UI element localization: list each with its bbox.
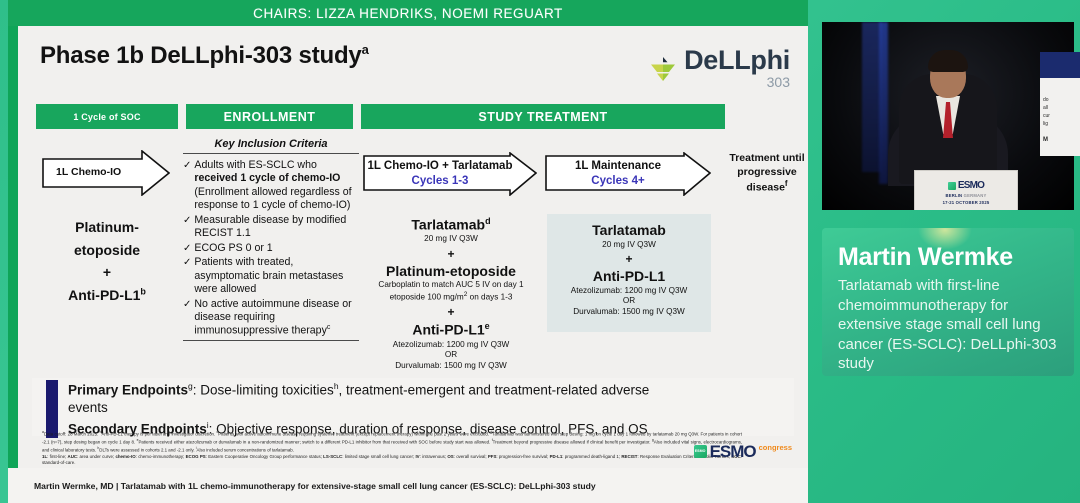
checkmark-icon: ✓: [183, 242, 191, 255]
arm2-arrow: 1L Maintenance Cycles 4+: [545, 152, 711, 196]
checkmark-icon: ✓: [183, 298, 191, 339]
regimen-drug-name: Platinum-etoposide: [363, 263, 539, 281]
podium-esmo-logo: ESMO: [948, 181, 984, 191]
treat-until-line3: disease: [746, 182, 785, 194]
speaker-video[interactable]: ESMO BERLIN GERMANY 17-21 OCTOBER 2025: [822, 22, 1074, 210]
podium-esmo-wordmark: ESMO: [958, 181, 984, 191]
regimen-drug-name: Tarlatamab: [551, 222, 707, 240]
podium-sign: ESMO BERLIN GERMANY 17-21 OCTOBER 2025: [914, 170, 1018, 210]
arrow-right-icon: [363, 152, 537, 196]
mini-slide-bar: [1040, 52, 1080, 78]
arrow-right-icon: [545, 152, 711, 196]
arm1-regimen: Tarlatamabd20 mg IV Q3W+Platinum-etoposi…: [363, 216, 539, 371]
footnote-line: aData cutoff: 28 March 2025. bAnti-PD-L1…: [42, 430, 742, 454]
kic-item: ✓No active autoimmune disease or disease…: [183, 298, 359, 339]
soc-regimen: Platinum- etoposide + Anti-PD-L1b: [36, 216, 178, 307]
band-study-treatment: STUDY TREATMENT: [361, 104, 725, 129]
treat-until-line2: progressive: [737, 166, 797, 178]
slide-title-footnote-marker: a: [362, 42, 369, 57]
slide-frame: Phase 1b DeLLphi-303 studya DeLLphi 303 …: [8, 26, 808, 468]
kic-item: ✓Measurable disease by modified RECIST 1…: [183, 214, 359, 241]
arm1-arrow: 1L Chemo-IO + Tarlatamab Cycles 1-3: [363, 152, 537, 196]
podium-location: BERLIN GERMANY: [946, 193, 987, 198]
soc-drug-line3: Anti-PD-L1b: [36, 284, 178, 307]
regimen-drug-name: Anti-PD-L1e: [363, 321, 539, 339]
regimen-drug-dose: Carboplatin to match AUC 5 IV on day 1et…: [363, 280, 539, 303]
page-title: Phase 1b DeLLphi-303 studya: [40, 42, 369, 70]
band-enrollment: ENROLLMENT: [186, 104, 353, 129]
checkmark-icon: ✓: [183, 214, 191, 241]
presentation-player: CHAIRS: LIZZA HENDRIKS, NOEMI REGUART Ph…: [0, 0, 1080, 503]
band-enrollment-label: ENROLLMENT: [224, 110, 316, 124]
treat-until-marker: f: [785, 179, 788, 188]
mini-slide-text: doallcurligM: [1043, 96, 1050, 146]
kic-item: ✓Patients with treated, asymptomatic bra…: [183, 256, 359, 296]
background-slide-peek: doallcurligM: [1040, 52, 1080, 156]
soc-drug-plus: +: [36, 261, 178, 284]
soc-arrow: 1L Chemo-IO: [42, 150, 170, 196]
arm2-regimen: Tarlatamab20 mg IV Q3W+Anti-PD-L1Atezoli…: [547, 214, 711, 332]
primary-endpoints-text: : Dose-limiting toxicities: [193, 383, 334, 398]
soc-drug-line2: etoposide: [36, 239, 178, 262]
primary-endpoints-line2: events: [68, 400, 108, 415]
dellphi-number: 303: [767, 75, 790, 89]
arm2-arrow-line1: 1L Maintenance: [545, 160, 711, 172]
checkmark-icon: ✓: [183, 256, 191, 296]
speaker-name: Martin Wermke: [838, 244, 1060, 270]
arm2-arrow-line2: Cycles 4+: [545, 175, 711, 187]
regimen-drug-dose: Atezolizumab: 1200 mg IV Q3WORDurvalumab…: [551, 286, 707, 318]
slide-footer-text: Martin Wermke, MD | Tarlatamab with 1L c…: [8, 481, 596, 491]
regimen-drug-dose: Atezolizumab: 1200 mg IV Q3WORDurvalumab…: [363, 340, 539, 372]
kic-item-text: Patients with treated, asymptomatic brai…: [194, 256, 359, 296]
soc-arrow-label: 1L Chemo-IO: [56, 166, 121, 178]
regimen-plus: +: [551, 250, 707, 268]
regimen-plus: +: [363, 303, 539, 321]
kic-item-text: No active autoimmune disease or disease …: [194, 298, 359, 339]
kic-item: ✓Adults with ES-SCLC who received 1 cycl…: [183, 159, 359, 213]
footnote-line: 1L: first-line; AUC: area under curve; c…: [42, 454, 742, 467]
kic-title: Key Inclusion Criteria: [183, 138, 359, 154]
podium-country: GERMANY: [964, 193, 987, 198]
endpoints-panel: Primary Endpointsg: Dose-limiting toxici…: [32, 378, 794, 436]
regimen-drug-dose: 20 mg IV Q3W: [551, 240, 707, 251]
speaker-talk-title: Tarlatamab with first-line chemoimmunoth…: [838, 276, 1060, 374]
kic-item: ✓ECOG PS 0 or 1: [183, 242, 359, 255]
treat-until-line1: Treatment until: [729, 152, 804, 164]
slide-canvas: Phase 1b DeLLphi-303 studya DeLLphi 303 …: [18, 26, 808, 468]
footnotes: aData cutoff: 28 March 2025. bAnti-PD-L1…: [42, 430, 742, 467]
kic-item-text: Measurable disease by modified RECIST 1.…: [194, 214, 359, 241]
slide-footer-bar: Martin Wermke, MD | Tarlatamab with 1L c…: [8, 468, 808, 503]
video-scene: ESMO BERLIN GERMANY 17-21 OCTOBER 2025: [822, 22, 1074, 210]
band-soc-label: 1 Cycle of SOC: [73, 112, 140, 122]
esmo-congress-logo: ESMO ESMO congress: [694, 443, 792, 460]
esmo-badge-icon: ESMO: [694, 445, 707, 458]
primary-endpoints-line: Primary Endpointsg: Dose-limiting toxici…: [68, 381, 649, 398]
chairs-text: CHAIRS: LIZZA HENDRIKS, NOEMI REGUART: [253, 6, 563, 21]
regimen-drug-dose: 20 mg IV Q3W: [363, 234, 539, 245]
dellphi-wordmark: DeLLphi: [684, 48, 790, 74]
checkmark-icon: ✓: [183, 159, 191, 213]
chairs-banner: CHAIRS: LIZZA HENDRIKS, NOEMI REGUART: [8, 0, 808, 26]
speaker-info-card: Martin Wermke Tarlatamab with first-line…: [822, 228, 1074, 376]
kic-divider: [183, 340, 359, 341]
regimen-drug-name: Tarlatamabd: [363, 216, 539, 234]
arm1-arrow-line2: Cycles 1-3: [363, 175, 537, 187]
esmo-wordmark: ESMO: [710, 443, 756, 460]
band-treatment-label: STUDY TREATMENT: [478, 110, 607, 124]
stage-curtain-highlight: [879, 22, 888, 184]
dellphi-chevron-icon: [648, 54, 678, 84]
kic-item-text: ECOG PS 0 or 1: [194, 242, 272, 255]
treatment-until-progression-label: Treatment until progressive diseasef: [724, 151, 808, 195]
primary-endpoints-label: Primary Endpoints: [68, 383, 188, 398]
speaker-hair: [928, 50, 968, 72]
dellphi-logo: DeLLphi 303: [648, 48, 790, 89]
podium-dates: 17-21 OCTOBER 2025: [943, 200, 990, 205]
soc-drug-line1: Platinum-: [36, 216, 178, 239]
key-inclusion-criteria: Key Inclusion Criteria ✓Adults with ES-S…: [183, 138, 359, 341]
podium-city: BERLIN: [946, 193, 963, 198]
band-1-cycle-of-soc: 1 Cycle of SOC: [36, 104, 178, 129]
player-sidebar: ESMO BERLIN GERMANY 17-21 OCTOBER 2025 d…: [814, 0, 1080, 503]
esmo-badge-icon: [948, 182, 956, 190]
regimen-plus: +: [363, 245, 539, 263]
arm1-arrow-line1: 1L Chemo-IO + Tarlatamab: [363, 160, 537, 172]
soc-drug-line3-marker: b: [140, 286, 146, 296]
kic-list: ✓Adults with ES-SCLC who received 1 cycl…: [183, 159, 359, 338]
primary-endpoints-text2: , treatment-emergent and treatment-relat…: [339, 383, 650, 398]
esmo-congress-text: congress: [759, 443, 792, 452]
regimen-drug-name: Anti-PD-L1: [551, 268, 707, 286]
slide-title-text: Phase 1b DeLLphi-303 study: [40, 42, 362, 69]
kic-item-text: Adults with ES-SCLC who received 1 cycle…: [194, 159, 359, 213]
soc-drug-line3-text: Anti-PD-L1: [68, 287, 140, 303]
